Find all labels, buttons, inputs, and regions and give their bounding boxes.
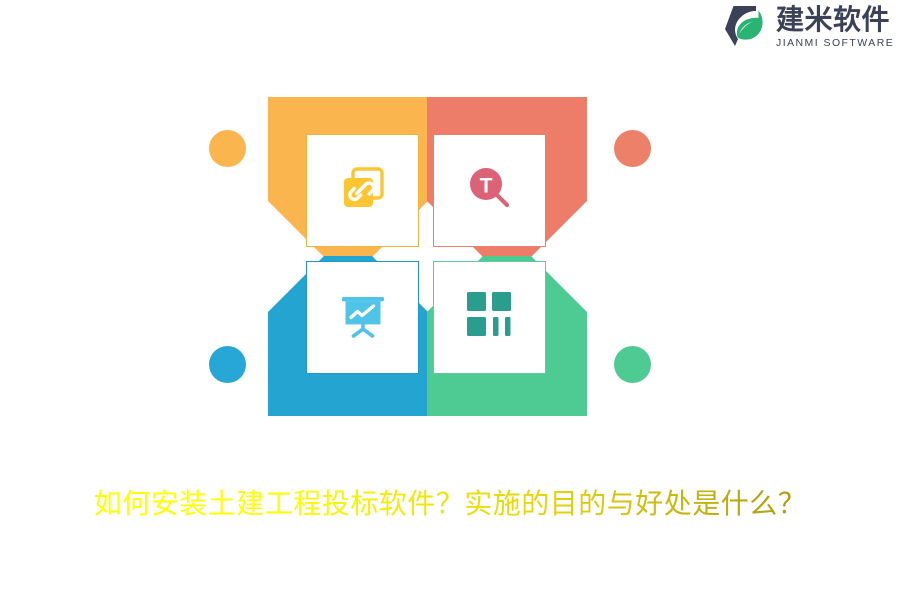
icon-card-chart	[306, 261, 419, 374]
brand-logo: 建米软件 JIANMI SOFTWARE	[722, 0, 892, 52]
icon-card-search: T	[433, 134, 546, 247]
brand-name-cn: 建米软件	[776, 6, 894, 34]
page-caption: 如何安装土建工程投标软件？实施的目的与好处是什么？	[0, 482, 900, 522]
leaf-hexagon-logo-icon	[722, 3, 768, 49]
link-copy-icon	[336, 161, 390, 220]
text-search-letter: T	[479, 175, 492, 198]
accent-dot-top-right	[614, 130, 651, 167]
accent-dot-bottom-right	[614, 346, 651, 383]
icon-card-link	[306, 134, 419, 247]
hero-graphic: T	[205, 95, 655, 420]
brand-name-en: JIANMI SOFTWARE	[776, 38, 894, 49]
text-search-icon: T	[466, 164, 514, 217]
accent-dot-top-left	[209, 130, 246, 167]
brand-wordmark: 建米软件 JIANMI SOFTWARE	[776, 4, 894, 49]
accent-dot-bottom-left	[209, 346, 246, 383]
presentation-chart-icon	[337, 289, 389, 346]
dashboard-grid-icon	[465, 290, 515, 345]
icon-card-grid	[433, 261, 546, 374]
